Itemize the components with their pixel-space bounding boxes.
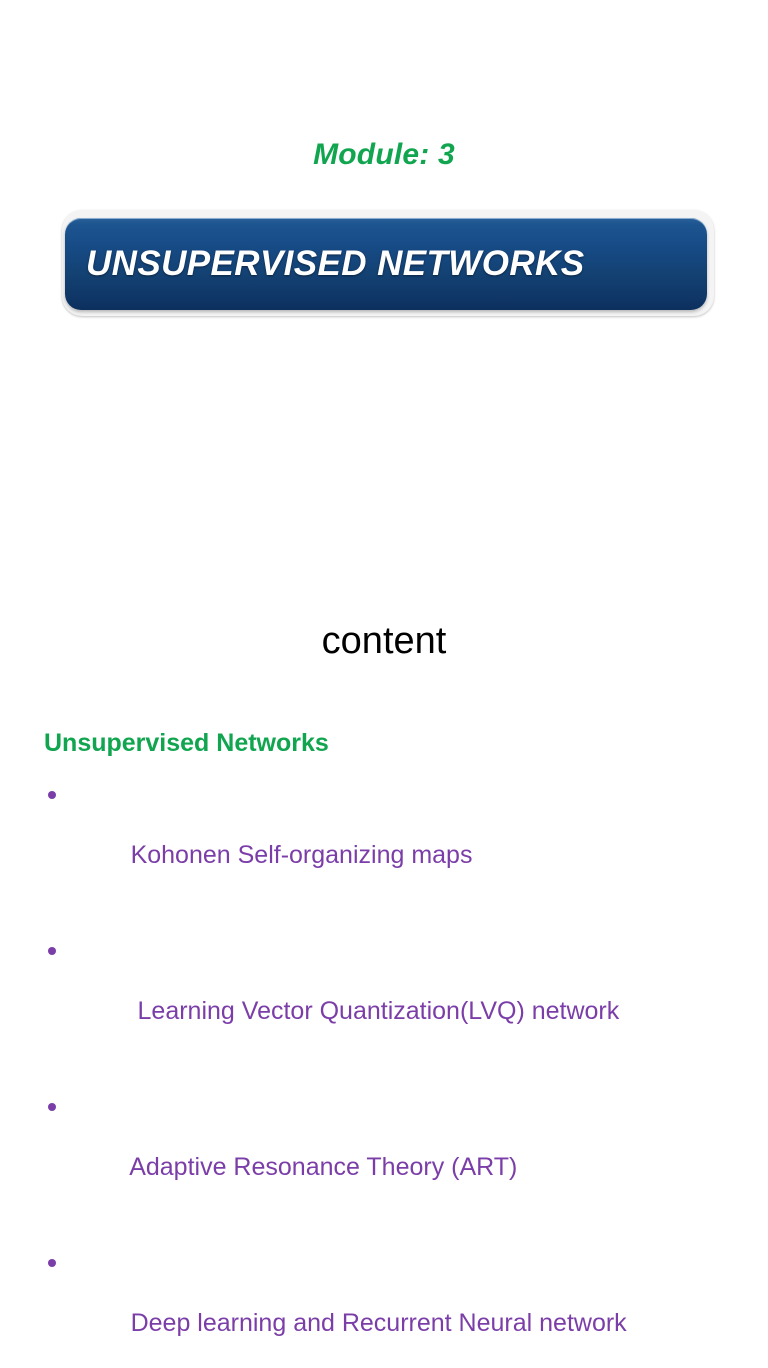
- list-item-label: Kohonen Self-organizing maps: [131, 841, 473, 869]
- banner-gradient-box: UNSUPERVISED NETWORKS: [65, 218, 707, 310]
- list-item-label: Deep learning and Recurrent Neural netwo…: [131, 1309, 627, 1337]
- list-item: Deep learning and Recurrent Neural netwo…: [44, 1248, 740, 1368]
- title-banner: UNSUPERVISED NETWORKS: [62, 210, 714, 316]
- content-heading: content: [0, 620, 768, 664]
- bullet-dot-icon: [48, 791, 56, 799]
- section-title: Unsupervised Networks: [44, 728, 740, 758]
- list-item: Learning Vector Quantization(LVQ) networ…: [44, 936, 740, 1056]
- slide-canvas: Module: 3 UNSUPERVISED NETWORKS content …: [0, 0, 768, 1024]
- list-item-label: Learning Vector Quantization(LVQ) networ…: [131, 997, 620, 1025]
- bullet-dot-icon: [48, 1103, 56, 1111]
- bullet-dot-icon: [48, 947, 56, 955]
- list-item: Adaptive Resonance Theory (ART): [44, 1092, 740, 1212]
- bullet-dot-icon: [48, 1259, 56, 1267]
- banner-title-text: UNSUPERVISED NETWORKS: [65, 244, 707, 284]
- list-item-label: Adaptive Resonance Theory (ART): [129, 1153, 517, 1181]
- list-item: Kohonen Self-organizing maps: [44, 780, 740, 900]
- content-body: Unsupervised Networks Kohonen Self-organ…: [44, 728, 740, 1368]
- topics-list: Kohonen Self-organizing maps Learning Ve…: [44, 780, 740, 1368]
- module-title: Module: 3: [0, 138, 768, 171]
